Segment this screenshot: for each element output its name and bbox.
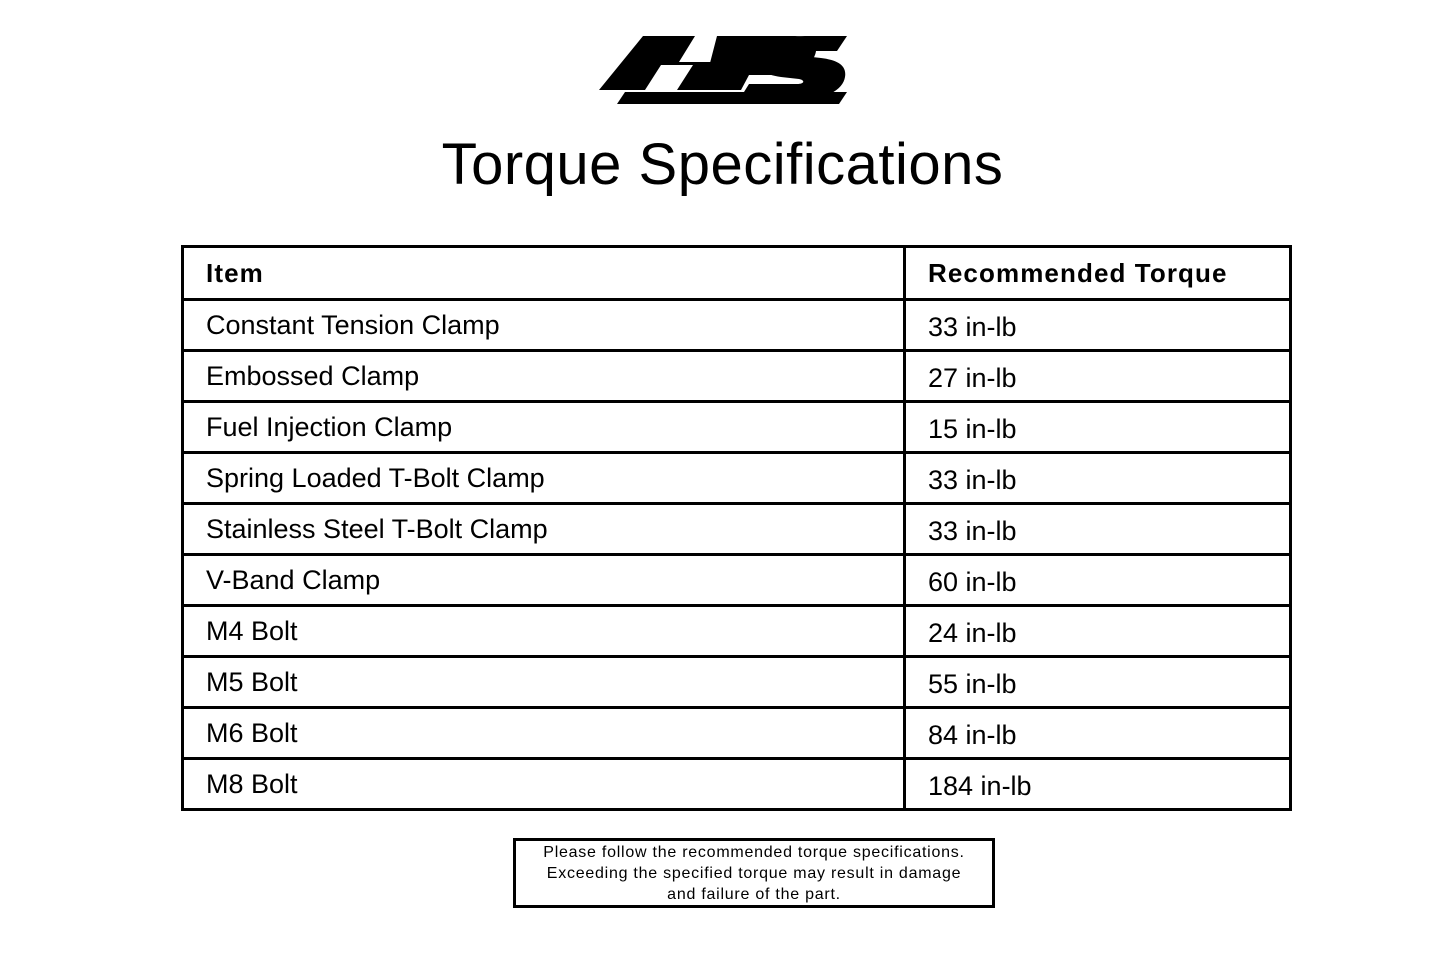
cell-item: Embossed Clamp xyxy=(183,351,905,402)
torque-specifications-table: Item Recommended Torque Constant Tension… xyxy=(181,245,1292,811)
hps-logo xyxy=(599,32,847,104)
cell-item: Spring Loaded T-Bolt Clamp xyxy=(183,453,905,504)
cell-torque: 15 in-lb xyxy=(905,402,1291,453)
cell-item: M6 Bolt xyxy=(183,708,905,759)
note-line: and failure of the part. xyxy=(667,884,841,905)
table-body: Constant Tension Clamp 33 in-lb Embossed… xyxy=(183,300,1291,810)
cell-item: Fuel Injection Clamp xyxy=(183,402,905,453)
table-row: Stainless Steel T-Bolt Clamp 33 in-lb xyxy=(183,504,1291,555)
table-row: M8 Bolt 184 in-lb xyxy=(183,759,1291,810)
table-row: M5 Bolt 55 in-lb xyxy=(183,657,1291,708)
cell-torque: 33 in-lb xyxy=(905,504,1291,555)
cell-torque: 27 in-lb xyxy=(905,351,1291,402)
table-row: Constant Tension Clamp 33 in-lb xyxy=(183,300,1291,351)
cell-item: V-Band Clamp xyxy=(183,555,905,606)
logo-header xyxy=(0,32,1445,112)
cell-torque: 33 in-lb xyxy=(905,300,1291,351)
warning-note-box: Please follow the recommended torque spe… xyxy=(513,838,995,908)
table-header-row: Item Recommended Torque xyxy=(183,247,1291,300)
table-row: M6 Bolt 84 in-lb xyxy=(183,708,1291,759)
cell-item: Stainless Steel T-Bolt Clamp xyxy=(183,504,905,555)
cell-torque: 60 in-lb xyxy=(905,555,1291,606)
table-row: Spring Loaded T-Bolt Clamp 33 in-lb xyxy=(183,453,1291,504)
cell-torque: 184 in-lb xyxy=(905,759,1291,810)
cell-torque: 33 in-lb xyxy=(905,453,1291,504)
cell-item: M8 Bolt xyxy=(183,759,905,810)
column-header-recommended-torque: Recommended Torque xyxy=(905,247,1291,300)
cell-item: M5 Bolt xyxy=(183,657,905,708)
cell-torque: 84 in-lb xyxy=(905,708,1291,759)
note-line: Please follow the recommended torque spe… xyxy=(543,842,964,863)
table-row: Fuel Injection Clamp 15 in-lb xyxy=(183,402,1291,453)
page-title: Torque Specifications xyxy=(0,128,1445,202)
torque-table-container: Item Recommended Torque Constant Tension… xyxy=(181,245,1289,811)
table-row: M4 Bolt 24 in-lb xyxy=(183,606,1291,657)
table-row: V-Band Clamp 60 in-lb xyxy=(183,555,1291,606)
table-row: Embossed Clamp 27 in-lb xyxy=(183,351,1291,402)
table-header: Item Recommended Torque xyxy=(183,247,1291,300)
cell-torque: 24 in-lb xyxy=(905,606,1291,657)
cell-item: Constant Tension Clamp xyxy=(183,300,905,351)
note-line: Exceeding the specified torque may resul… xyxy=(547,863,961,884)
column-header-item: Item xyxy=(183,247,905,300)
cell-torque: 55 in-lb xyxy=(905,657,1291,708)
cell-item: M4 Bolt xyxy=(183,606,905,657)
